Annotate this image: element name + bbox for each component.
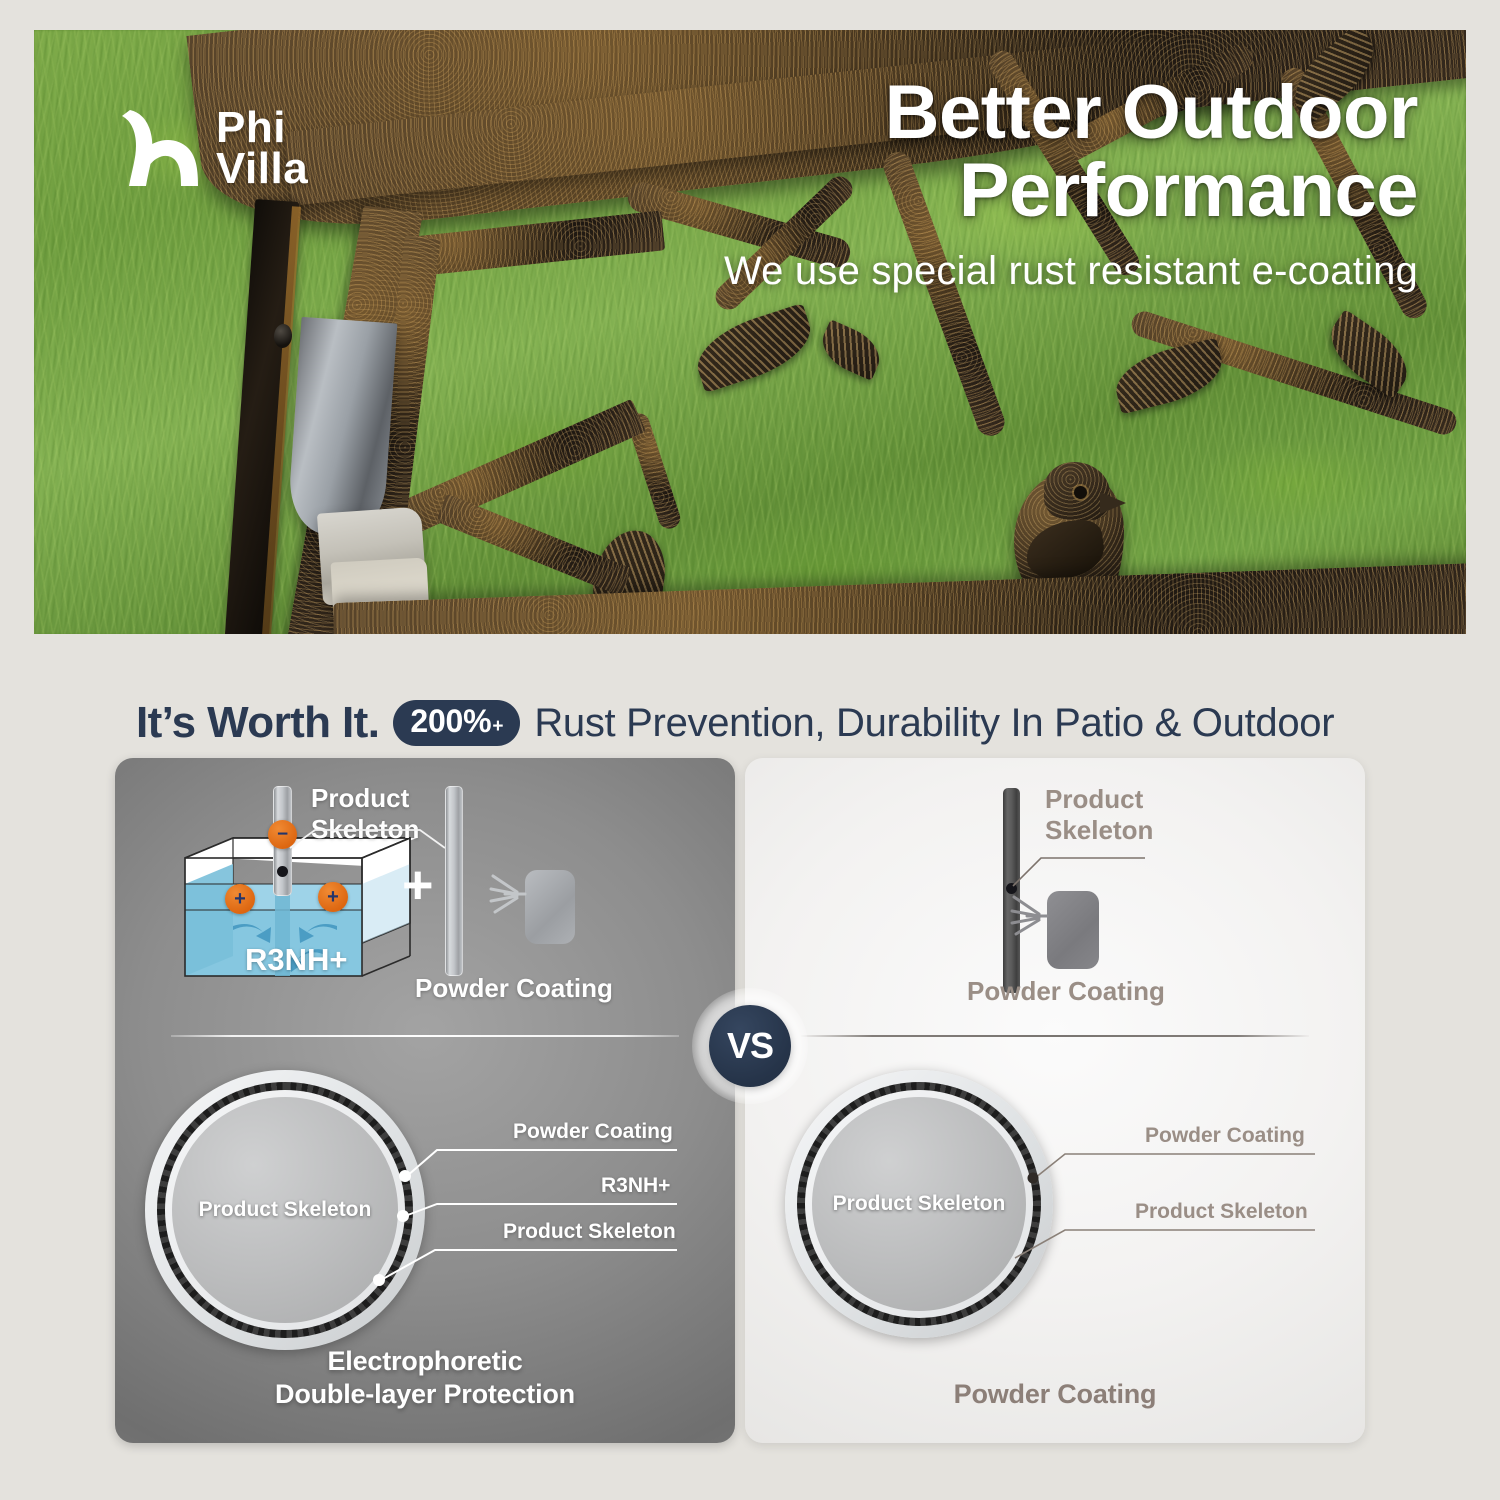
panel-caption-left-line2: Double-layer Protection [115,1378,735,1411]
ornament-leaf [815,319,888,381]
panel-electrophoretic: − + + Product Skeleton R3NH+ + Powder Co… [115,758,735,1443]
phivilla-curve-mark-icon [118,104,204,192]
panel-powder-coating: Product Skeleton Powder Coating Product … [745,758,1365,1443]
callout-leaders-right [745,758,1365,1443]
bench-arm-diagonal [394,399,646,538]
panel-caption-left-line1: Electrophoretic [115,1345,735,1378]
banner-copy: Better Outdoor Performance We use specia… [658,74,1418,294]
section-headline: It’s Worth It. 200%+ Rust Prevention, Du… [136,697,1334,749]
percent-badge-suffix: + [492,717,503,738]
brand-name-line2: Villa [216,148,308,189]
bird-beak [1100,492,1126,514]
panel-caption-right-line1: Powder Coating [745,1378,1365,1411]
banner-title-line2: Performance [658,152,1418,230]
callout-leaders-left [115,758,735,1443]
brand-logo: Phi Villa [118,104,308,192]
vs-badge: VS [692,988,808,1104]
callout-product-skeleton: Product Skeleton [1135,1200,1308,1224]
callout-powder-coating: Powder Coating [513,1120,673,1144]
banner-subtitle: We use special rust resistant e-coating [658,249,1418,294]
banner-title: Better Outdoor Performance [658,74,1418,231]
callout-product-skeleton: Product Skeleton [503,1220,676,1244]
steel-bracket [287,317,398,538]
callout-r3nh: R3NH+ [601,1174,670,1198]
headline-strong: It’s Worth It. [136,698,379,748]
ornament-leaf [688,303,819,393]
hero-banner: Phi Villa Better Outdoor Performance We … [34,30,1466,634]
bench-arm-diagonal [436,494,633,597]
bird-eye [1074,486,1087,499]
ornament-leaf [1109,337,1228,414]
panel-caption-right: Powder Coating [745,1378,1365,1411]
brand-name-line1: Phi [216,107,308,148]
percent-badge-value: 200% [410,704,491,739]
brand-name: Phi Villa [216,107,308,190]
headline-rest: Rust Prevention, Durability In Patio & O… [534,701,1334,746]
banner-title-line1: Better Outdoor [658,74,1418,152]
vs-label: VS [709,1005,791,1087]
callout-powder-coating: Powder Coating [1145,1124,1305,1148]
bench-bottom-rail [333,561,1466,634]
panel-caption-left: Electrophoretic Double-layer Protection [115,1345,735,1411]
percent-badge: 200%+ [393,700,520,745]
